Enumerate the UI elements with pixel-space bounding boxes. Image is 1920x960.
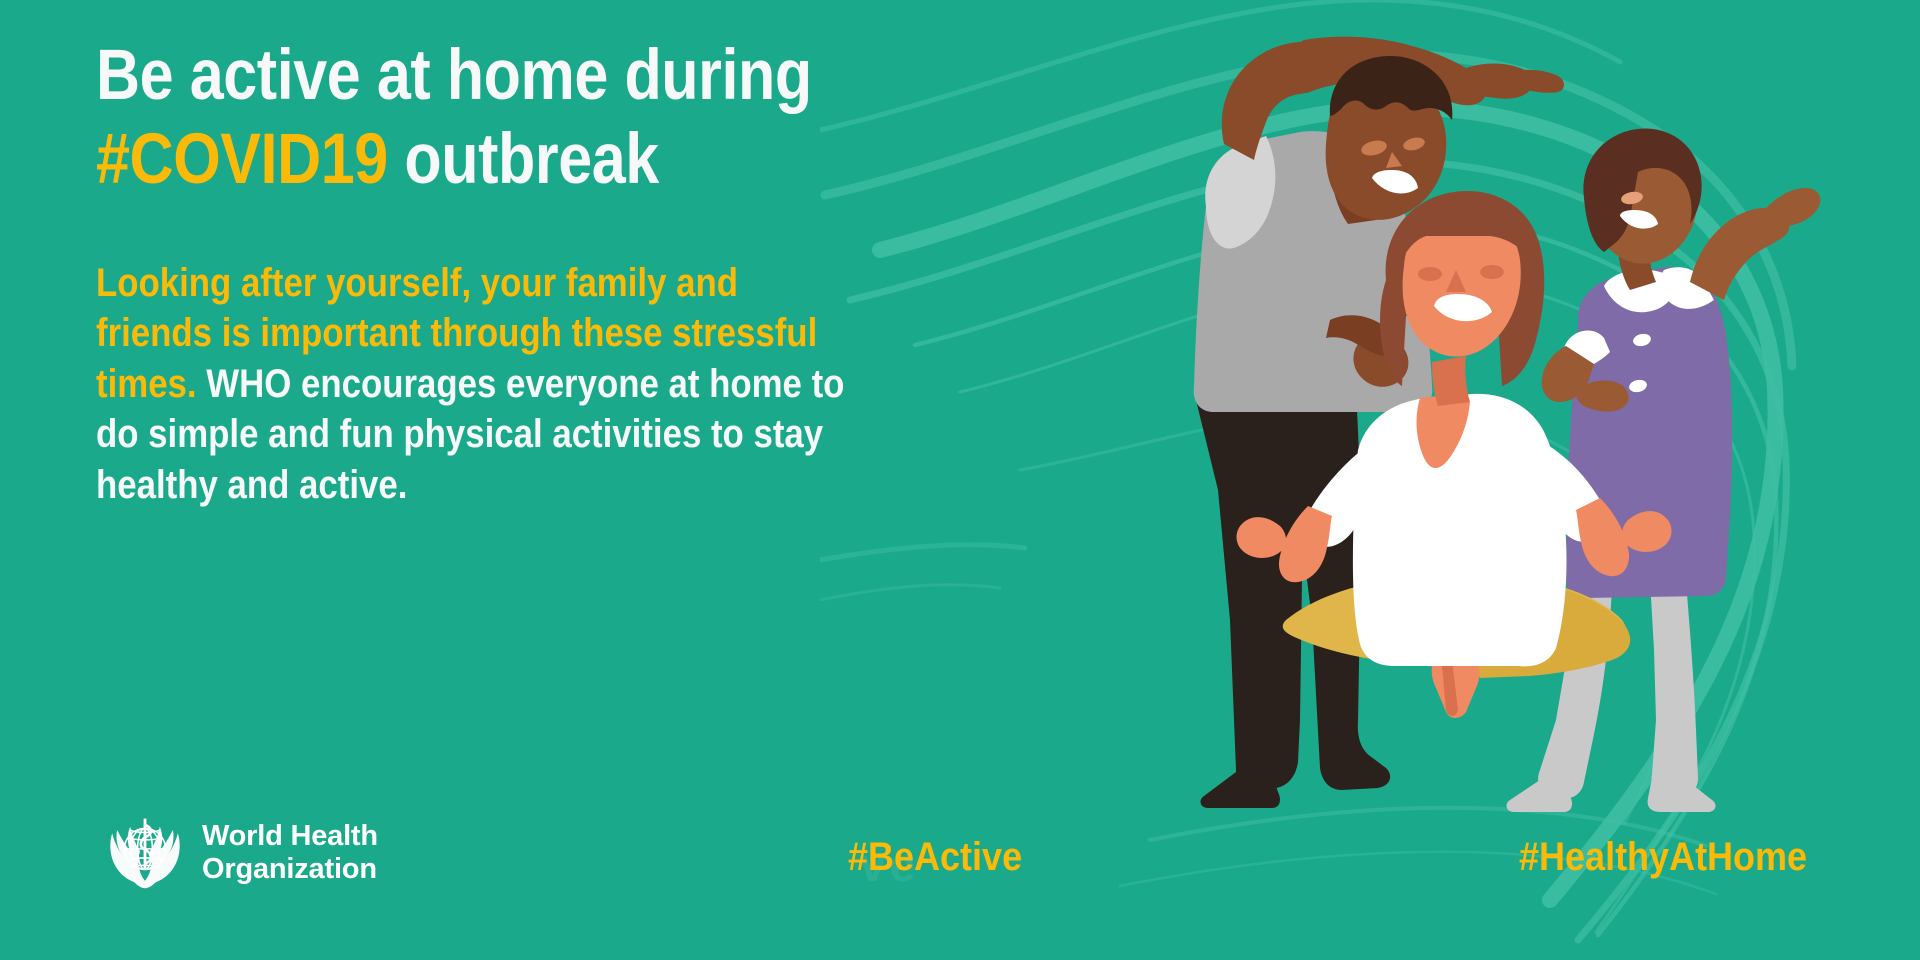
hashtag-beactive: #BeActive	[848, 835, 1022, 880]
headline-hashtag-covid19: #COVID19	[96, 120, 388, 199]
body-white-sentence: WHO encourages everyone at home to do si…	[96, 362, 844, 507]
who-wordmark-line-2: Organization	[202, 853, 378, 886]
page-title: Be active at home during #COVID19 outbre…	[96, 34, 904, 202]
woman-neck	[1432, 356, 1470, 406]
headline-line-2: #COVID19 outbreak	[96, 118, 904, 202]
who-wordmark-line-1: World Health	[202, 820, 378, 853]
woman-eye-left	[1418, 267, 1442, 281]
woman-eye-right	[1480, 265, 1504, 279]
body-paragraph: Looking after yourself, your family and …	[96, 258, 862, 511]
headline-line-1: Be active at home during	[96, 34, 904, 118]
girl-right-leg	[1650, 580, 1698, 798]
headline-outbreak: outbreak	[404, 120, 658, 199]
text-column: Be active at home during #COVID19 outbre…	[96, 34, 1036, 511]
who-wordmark: World Health Organization	[202, 820, 378, 886]
who-emblem-icon	[104, 812, 186, 894]
girl-left-foot	[1507, 780, 1572, 812]
hashtag-healthyathome: #HealthyAtHome	[1519, 835, 1807, 880]
man-left-leg	[1194, 392, 1303, 790]
girl-raised-hand	[1766, 188, 1820, 226]
man-left-shoe	[1201, 772, 1280, 808]
who-logo: World Health Organization	[104, 812, 378, 894]
who-be-active-poster: Be active at home during #COVID19 outbre…	[0, 0, 1920, 960]
girl-raised-arm	[1690, 208, 1790, 300]
girl-right-foot	[1648, 778, 1716, 812]
family-exercising-illustration	[1180, 20, 1920, 840]
